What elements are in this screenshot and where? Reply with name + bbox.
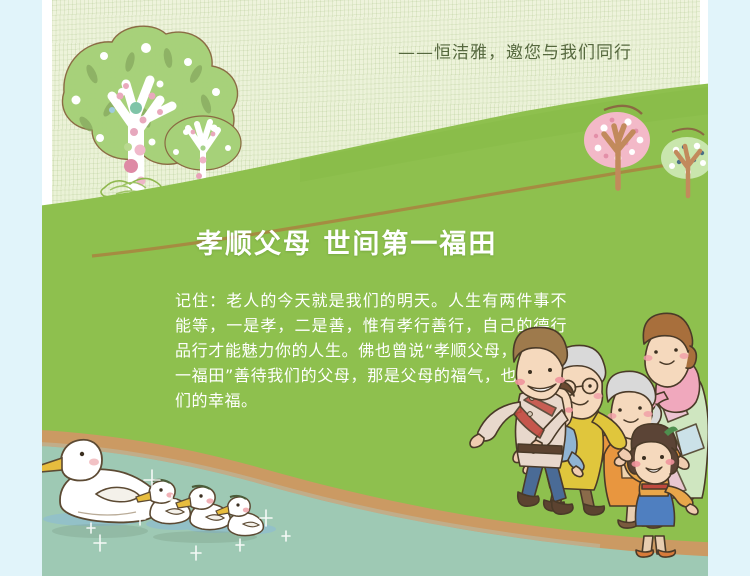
left-blue-rail — [0, 0, 42, 576]
poster-canvas: ——恒洁雅，邀您与我们同行 孝顺父母 世间第一福田 记住：老人的今天就是我们的明… — [0, 0, 750, 576]
right-blue-rail — [708, 0, 750, 576]
father — [470, 327, 573, 514]
family-group — [0, 0, 750, 576]
father-belt — [518, 444, 562, 454]
